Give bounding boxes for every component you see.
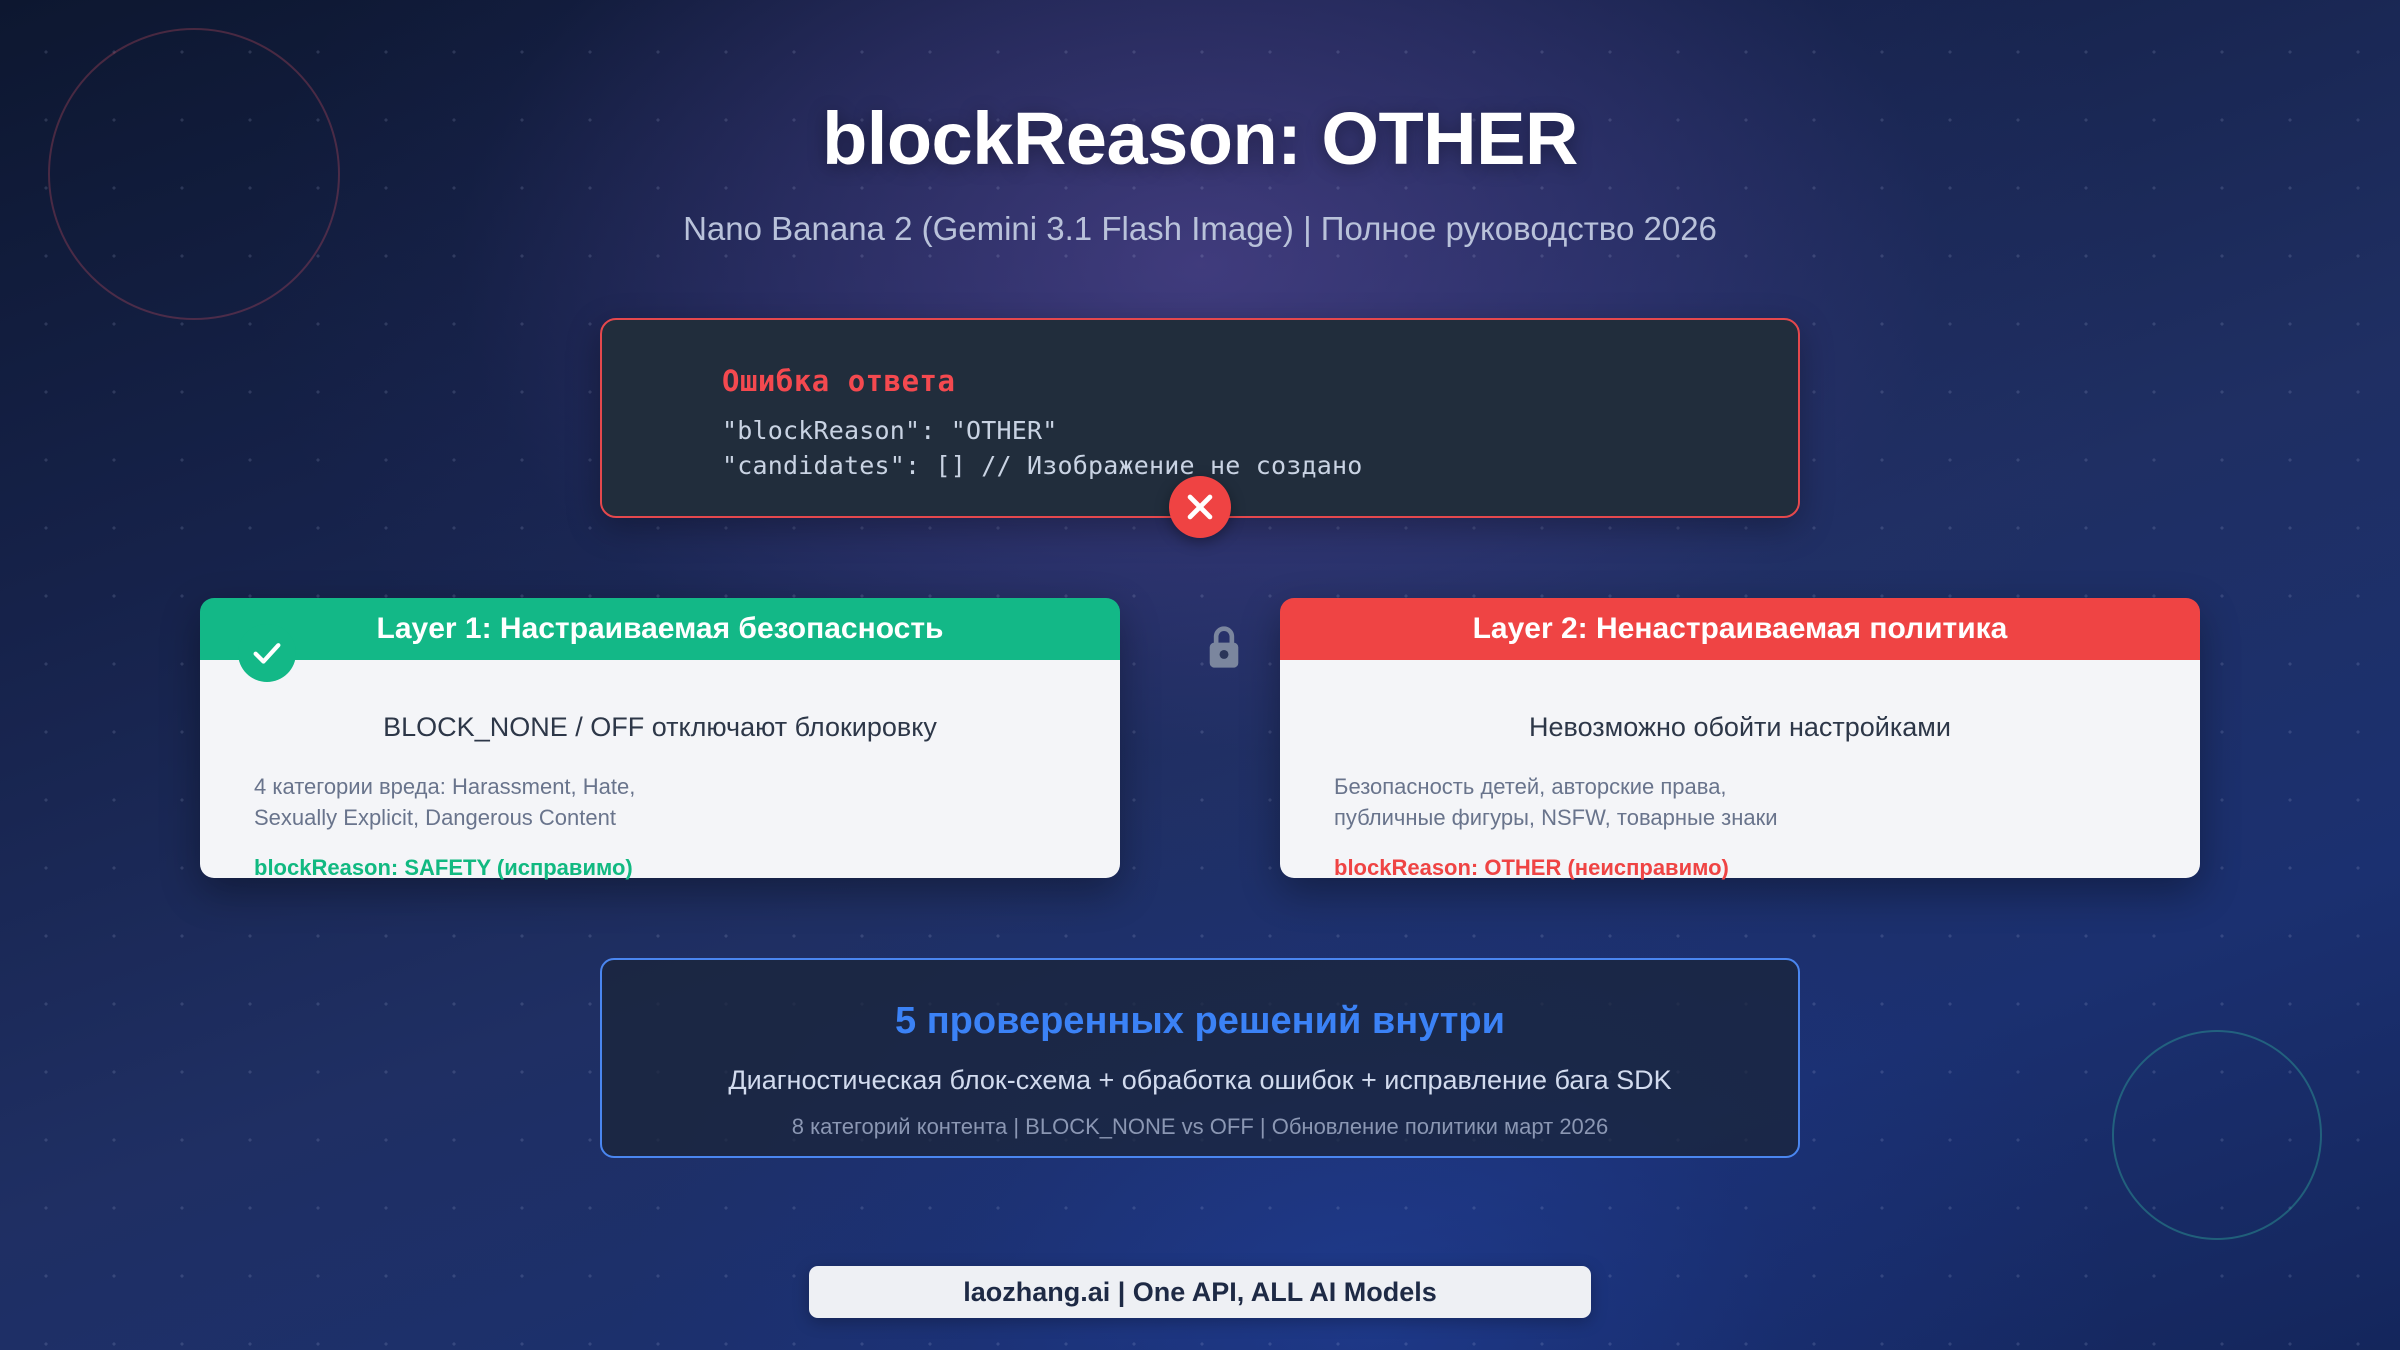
layer-2-card-body: Невозможно обойти настройками Безопаснос…: [1280, 660, 2200, 878]
error-code-line-2: "candidates": [] // Изображение не созда…: [722, 449, 1798, 484]
close-x-icon: [1169, 476, 1231, 538]
promo-meta: 8 категорий контента | BLOCK_NONE vs OFF…: [602, 1114, 1798, 1140]
layer-2-status-tag: blockReason: OTHER (неисправимо): [1334, 855, 2146, 881]
promo-title: 5 проверенных решений внутри: [602, 1000, 1798, 1043]
layer-2-card: Layer 2: Ненастраиваемая политика Невозм…: [1280, 598, 2200, 878]
promo-box: 5 проверенных решений внутри Диагностиче…: [600, 958, 1800, 1158]
layer-2-card-header: Layer 2: Ненастраиваемая политика: [1280, 598, 2200, 660]
promo-subtitle: Диагностическая блок-схема + обработка о…: [602, 1065, 1798, 1096]
layer-1-main-text: BLOCK_NONE / OFF отключают блокировку: [254, 712, 1066, 743]
page-subtitle: Nano Banana 2 (Gemini 3.1 Flash Image) |…: [0, 210, 2400, 248]
lock-icon: [1200, 620, 1248, 676]
layer-2-detail: Безопасность детей, авторские права, пуб…: [1334, 771, 2146, 833]
layer-2-header-label: Layer 2: Ненастраиваемая политика: [1473, 612, 2008, 646]
layer-1-status-tag: blockReason: SAFETY (исправимо): [254, 855, 1066, 881]
layer-2-detail-line-2: публичные фигуры, NSFW, товарные знаки: [1334, 802, 2146, 833]
error-response-box: Ошибка ответа "blockReason": "OTHER" "ca…: [600, 318, 1800, 518]
poster-canvas: blockReason: OTHER Nano Banana 2 (Gemini…: [0, 0, 2400, 1350]
layer-1-detail-line-2: Sexually Explicit, Dangerous Content: [254, 802, 1066, 833]
error-code-line-1: "blockReason": "OTHER": [722, 414, 1798, 449]
layer-1-header-label: Layer 1: Настраиваемая безопасность: [377, 612, 944, 646]
layer-1-card: Layer 1: Настраиваемая безопасность BLOC…: [200, 598, 1120, 878]
layer-1-detail-line-1: 4 категории вреда: Harassment, Hate,: [254, 771, 1066, 802]
check-icon: [238, 624, 296, 682]
layer-1-card-header: Layer 1: Настраиваемая безопасность: [200, 598, 1120, 660]
page-title: blockReason: OTHER: [0, 96, 2400, 181]
footer-brand-badge[interactable]: laozhang.ai | One API, ALL AI Models: [809, 1266, 1591, 1318]
layer-1-card-body: BLOCK_NONE / OFF отключают блокировку 4 …: [200, 660, 1120, 878]
layer-2-detail-line-1: Безопасность детей, авторские права,: [1334, 771, 2146, 802]
error-heading: Ошибка ответа: [722, 364, 1798, 398]
error-code-content: Ошибка ответа "blockReason": "OTHER" "ca…: [602, 320, 1798, 483]
layer-2-main-text: Невозможно обойти настройками: [1334, 712, 2146, 743]
layer-1-detail: 4 категории вреда: Harassment, Hate, Sex…: [254, 771, 1066, 833]
